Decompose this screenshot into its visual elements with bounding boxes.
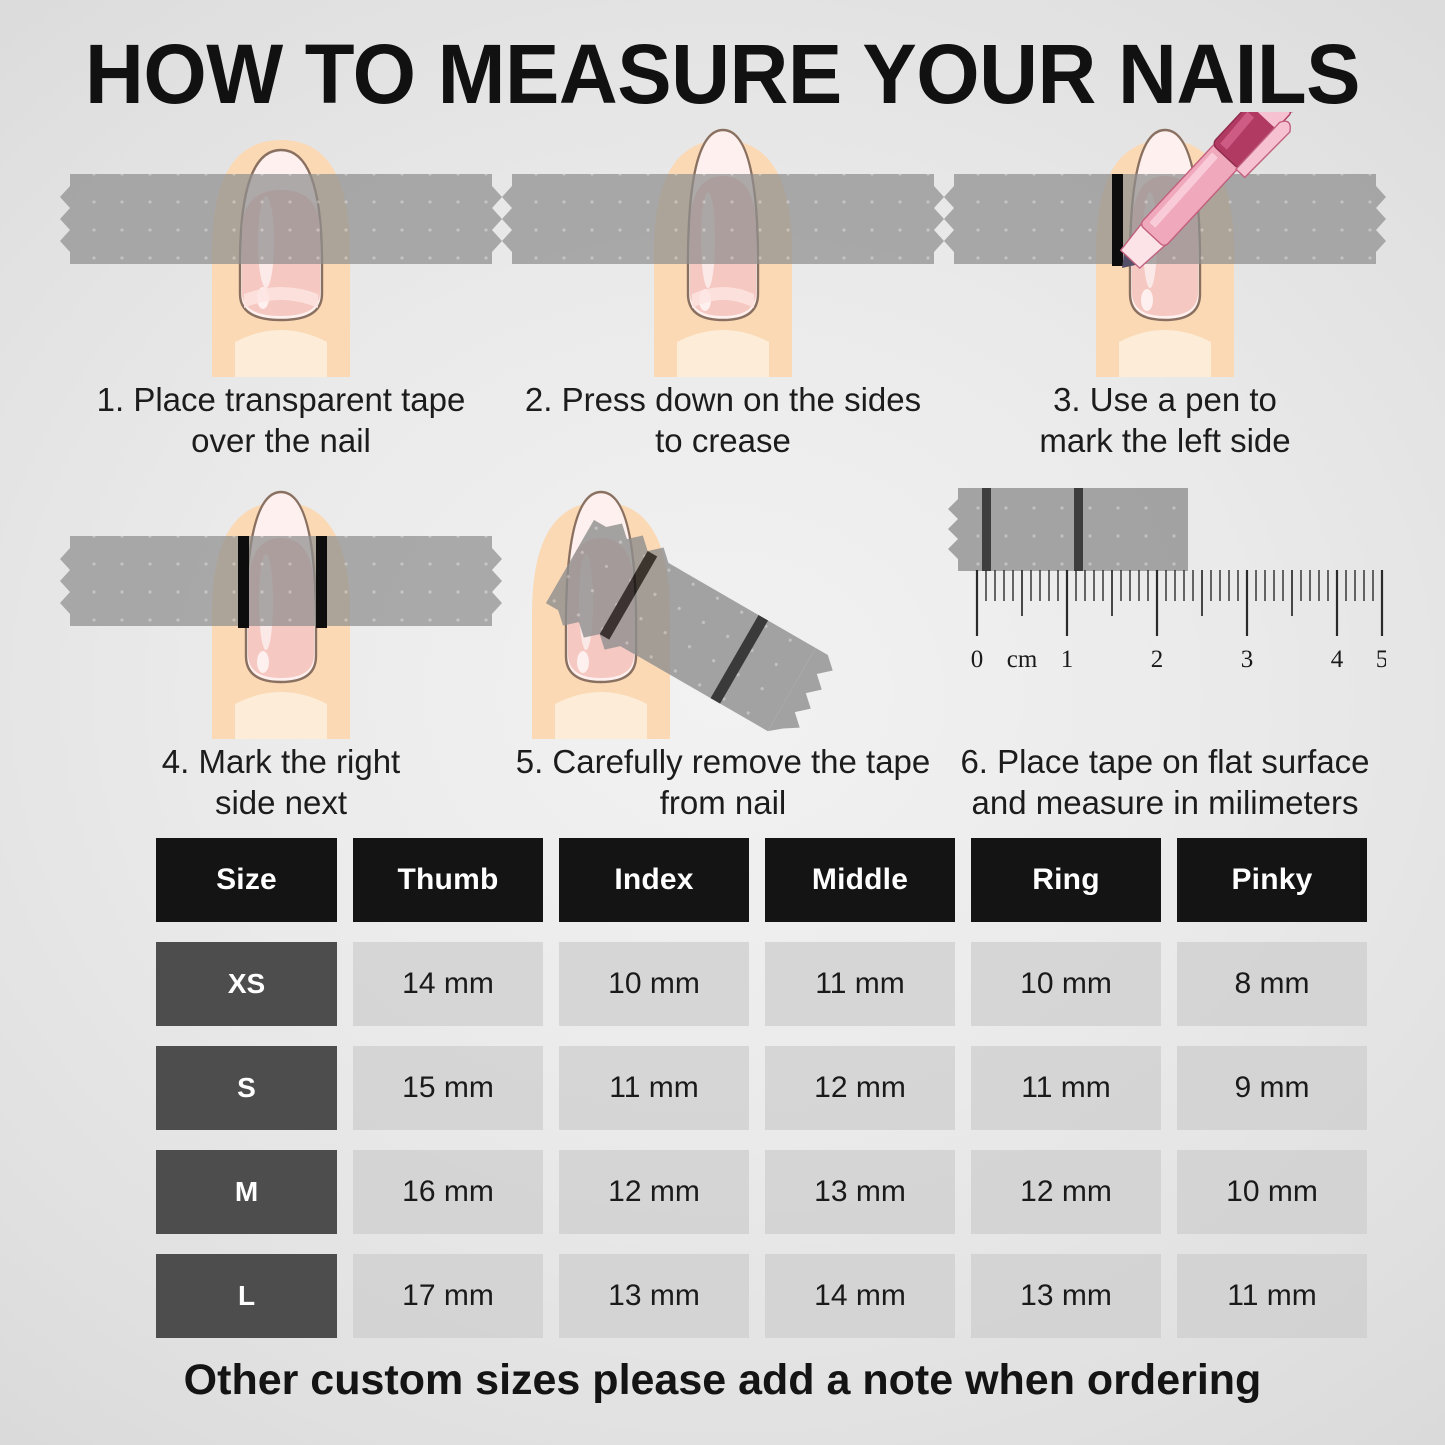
step-4-caption: 4. Mark the right side next: [60, 742, 502, 823]
step-3-caption-line1: 3. Use a pen to: [944, 380, 1386, 421]
table-row-s-ring: 11 mm: [971, 1046, 1161, 1130]
step-1-caption: 1. Place transparent tape over the nail: [60, 380, 502, 461]
step-5-caption-line2: from nail: [502, 783, 944, 824]
step-3-caption: 3. Use a pen to mark the left side: [944, 380, 1386, 461]
nail-with-tape-graphic: [60, 112, 502, 377]
table-header-size: Size: [156, 838, 337, 922]
step-5-illustration: [502, 474, 944, 739]
table-row-l-size: L: [156, 1254, 337, 1338]
step-3-caption-line2: mark the left side: [944, 421, 1386, 462]
size-chart-table: Size Thumb Index Middle Ring Pinky XS 14…: [156, 838, 1309, 1338]
table-row-xs-index: 10 mm: [559, 942, 749, 1026]
tape-removal-graphic: [502, 474, 944, 739]
step-2-illustration: [502, 112, 944, 377]
table-row-m-size: M: [156, 1150, 337, 1234]
tape-strip: [60, 174, 502, 264]
left-mark: [1112, 174, 1123, 266]
left-mark: [982, 488, 991, 571]
right-mark: [316, 536, 327, 628]
step-4: 4. Mark the right side next: [60, 474, 502, 836]
table-row-l-pinky: 11 mm: [1177, 1254, 1367, 1338]
table-header-pinky: Pinky: [1177, 838, 1367, 922]
table-row-s-thumb: 15 mm: [353, 1046, 543, 1130]
step-2-caption: 2. Press down on the sides to crease: [502, 380, 944, 461]
table-row-xs-pinky: 8 mm: [1177, 942, 1367, 1026]
step-3-illustration: [944, 112, 1386, 377]
ruler-label-4: 4: [1331, 646, 1344, 674]
tape-strip: [60, 536, 502, 626]
table-row-m-pinky: 10 mm: [1177, 1150, 1367, 1234]
step-1-illustration: [60, 112, 502, 377]
table-row-l-ring: 13 mm: [971, 1254, 1161, 1338]
step-3: 3. Use a pen to mark the left side: [944, 112, 1386, 474]
table-row-l-middle: 14 mm: [765, 1254, 955, 1338]
custom-size-note: Other custom sizes please add a note whe…: [0, 1356, 1445, 1405]
step-6-caption-line2: and measure in milimeters: [944, 783, 1386, 824]
ruler-label-5: 5: [1376, 646, 1386, 674]
step-1-caption-line2: over the nail: [60, 421, 502, 462]
nail-pen-mark-graphic: [944, 112, 1386, 377]
table-row-s-index: 11 mm: [559, 1046, 749, 1130]
tape-on-ruler-graphic: [944, 474, 1386, 739]
step-2: 2. Press down on the sides to crease: [502, 112, 944, 474]
table-row-l-index: 13 mm: [559, 1254, 749, 1338]
nail-pressed-sides-graphic: [502, 112, 944, 377]
page-title: HOW TO MEASURE YOUR NAILS: [22, 26, 1424, 123]
table-row-m-middle: 13 mm: [765, 1150, 955, 1234]
table-row-xs-thumb: 14 mm: [353, 942, 543, 1026]
ruler-ticks: [977, 570, 1382, 636]
ruler-label-cm: cm: [1007, 646, 1038, 674]
table-header-ring: Ring: [971, 838, 1161, 922]
table-row-l-thumb: 17 mm: [353, 1254, 543, 1338]
table-row-xs-ring: 10 mm: [971, 942, 1161, 1026]
step-4-illustration: [60, 474, 502, 739]
step-5-caption: 5. Carefully remove the tape from nail: [502, 742, 944, 823]
ruler-label-1: 1: [1061, 646, 1074, 674]
step-2-caption-line2: to crease: [502, 421, 944, 462]
ruler-label-2: 2: [1151, 646, 1164, 674]
step-5-caption-line1: 5. Carefully remove the tape: [502, 742, 944, 783]
step-5: 5. Carefully remove the tape from nail: [502, 474, 944, 836]
step-2-caption-line1: 2. Press down on the sides: [502, 380, 944, 421]
table-row-xs-middle: 11 mm: [765, 942, 955, 1026]
table-row-m-index: 12 mm: [559, 1150, 749, 1234]
ruler-label-3: 3: [1241, 646, 1254, 674]
left-mark: [238, 536, 249, 628]
table-header-thumb: Thumb: [353, 838, 543, 922]
table-row-s-size: S: [156, 1046, 337, 1130]
step-4-caption-line2: side next: [60, 783, 502, 824]
step-6-caption-line1: 6. Place tape on flat surface: [944, 742, 1386, 783]
tape-strip: [502, 174, 944, 264]
tape-strip: [948, 488, 1188, 571]
step-1: 1. Place transparent tape over the nail: [60, 112, 502, 474]
table-row-m-ring: 12 mm: [971, 1150, 1161, 1234]
step-6-caption: 6. Place tape on flat surface and measur…: [944, 742, 1386, 823]
right-mark: [1074, 488, 1083, 571]
table-row-s-middle: 12 mm: [765, 1046, 955, 1130]
table-row-m-thumb: 16 mm: [353, 1150, 543, 1234]
step-6-illustration: 0 cm 1 2 3 4 5: [944, 474, 1386, 739]
table-header-middle: Middle: [765, 838, 955, 922]
step-4-caption-line1: 4. Mark the right: [60, 742, 502, 783]
step-1-caption-line1: 1. Place transparent tape: [60, 380, 502, 421]
nail-both-marks-graphic: [60, 474, 502, 739]
steps-grid: 1. Place transparent tape over the nail: [60, 112, 1385, 836]
ruler-label-0: 0: [971, 646, 984, 674]
step-6: 0 cm 1 2 3 4 5 6. Place tape on flat sur…: [944, 474, 1386, 836]
table-header-index: Index: [559, 838, 749, 922]
table-row-xs-size: XS: [156, 942, 337, 1026]
table-row-s-pinky: 9 mm: [1177, 1046, 1367, 1130]
